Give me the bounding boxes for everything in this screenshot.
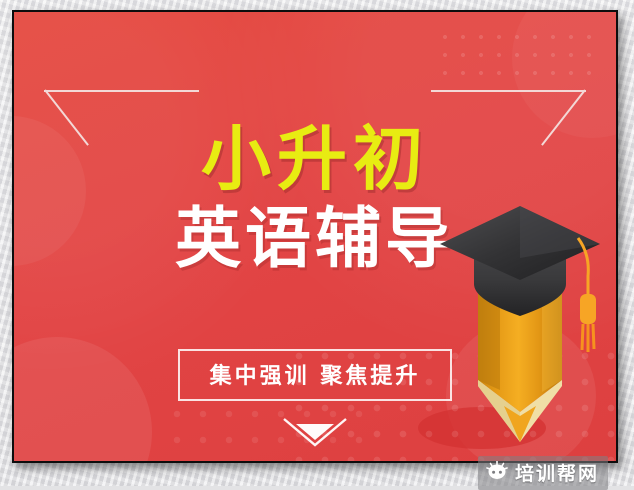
watermark-text: 培训帮网: [515, 459, 599, 486]
bracket-horizontal-line: [431, 90, 586, 92]
sun-face-icon: [486, 461, 508, 485]
subtitle-box: 集中强训 聚焦提升: [178, 349, 453, 401]
dot-grid-pattern: [436, 28, 596, 84]
poster: 小升初 英语辅导 集中强训 聚焦提升: [12, 10, 618, 463]
graduation-cap-pencil-illustration: [438, 200, 608, 450]
page-canvas: 小升初 英语辅导 集中强训 聚焦提升: [0, 0, 634, 486]
watermark: 培训帮网: [478, 456, 608, 490]
bracket-horizontal-line: [44, 90, 199, 92]
